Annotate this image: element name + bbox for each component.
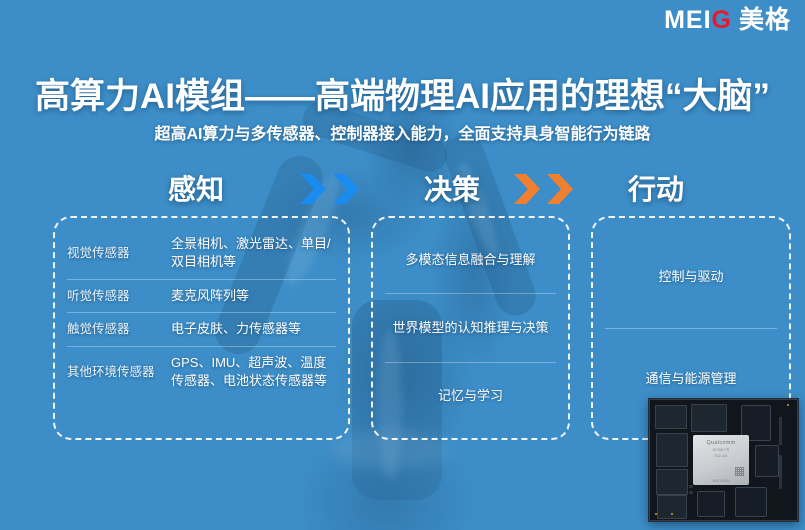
module-board-image: Qualcomm SC9807S 002-AA JK57X0R04 [648,398,799,522]
chevron-right-icon [512,172,542,206]
board-component [787,404,789,406]
stage-header-row: 感知 决策 行动 [0,168,805,214]
board-component [779,455,782,489]
soc-code2-label: 002-AA [714,454,727,458]
board-component [655,513,657,515]
chevron-right-icon [545,172,575,206]
soc-code-label: SC9807S [713,448,730,452]
soc-serial-label: JK57X0R04 [712,479,730,483]
board-component [755,445,779,477]
board-component [657,495,687,519]
board-component [779,417,782,445]
perception-row-value: 全景相机、激光雷达、单目/双目相机等 [171,235,336,272]
chevron-right-icon [331,172,361,206]
table-row: 其他环境传感器 GPS、IMU、超声波、温度传感器、电池状态传感器等 [67,346,336,398]
table-row: 视觉传感器 全景相机、激光雷达、单目/双目相机等 [67,228,336,279]
table-row: 听觉传感器 麦克风阵列等 [67,279,336,312]
board-component [689,491,693,494]
board-component [697,491,725,517]
table-row: 触觉传感器 电子皮肤、力传感器等 [67,312,336,345]
perception-row-value: GPS、IMU、超声波、温度传感器、电池状态传感器等 [171,354,336,391]
perception-row-value: 麦克风阵列等 [171,287,336,305]
soc-datamatrix-icon [735,467,744,476]
arrow-group-blue [298,172,361,206]
stage-label-perception: 感知 [168,168,224,208]
stage-label-decision: 决策 [424,168,480,208]
page-title: 高算力AI模组——高端物理AI应用的理想“大脑” [0,68,805,119]
list-item: 控制与驱动 [605,226,777,328]
stage-label-action: 行动 [628,168,684,208]
board-component [656,433,688,467]
qualcomm-soc-chip: Qualcomm SC9807S 002-AA JK57X0R04 [693,435,749,485]
list-item: 记忆与学习 [385,362,556,430]
logo-wordmark: MEIG [664,8,732,33]
board-component [691,404,727,432]
page-subtitle: 超高AI算力与多传感器、控制器接入能力，全面支持具身智能行为链路 [0,120,805,144]
slide-root: MEIG 美格 高算力AI模组——高端物理AI应用的理想“大脑” 超高AI算力与… [0,0,805,530]
perception-row-value: 电子皮肤、力传感器等 [171,320,336,338]
logo-chinese-name: 美格 [739,8,791,33]
board-component [735,487,767,517]
decision-item-list: 多模态信息融合与理解 世界模型的认知推理与决策 记忆与学习 [373,218,568,438]
arrow-group-orange [512,172,575,206]
soc-brand-label: Qualcomm [707,440,736,446]
logo-wordmark-text: MEI [664,8,711,33]
board-component [689,485,693,488]
panel-decision: 多模态信息融合与理解 世界模型的认知推理与决策 记忆与学习 [371,216,570,440]
board-component [671,513,673,515]
list-item: 多模态信息融合与理解 [385,226,556,293]
board-component [655,405,687,429]
perception-row-key: 其他环境传感器 [67,364,171,381]
chevron-right-icon [298,172,328,206]
board-component [656,469,688,495]
logo-accent-letter: G [712,8,732,33]
perception-row-list: 视觉传感器 全景相机、激光雷达、单目/双目相机等 听觉传感器 麦克风阵列等 触觉… [55,218,348,438]
panel-perception: 视觉传感器 全景相机、激光雷达、单目/双目相机等 听觉传感器 麦克风阵列等 触觉… [53,216,350,440]
perception-row-key: 触觉传感器 [67,321,171,338]
meig-logo: MEIG 美格 [664,8,791,33]
perception-row-key: 视觉传感器 [67,245,171,262]
perception-row-key: 听觉传感器 [67,288,171,305]
list-item: 世界模型的认知推理与决策 [385,293,556,361]
